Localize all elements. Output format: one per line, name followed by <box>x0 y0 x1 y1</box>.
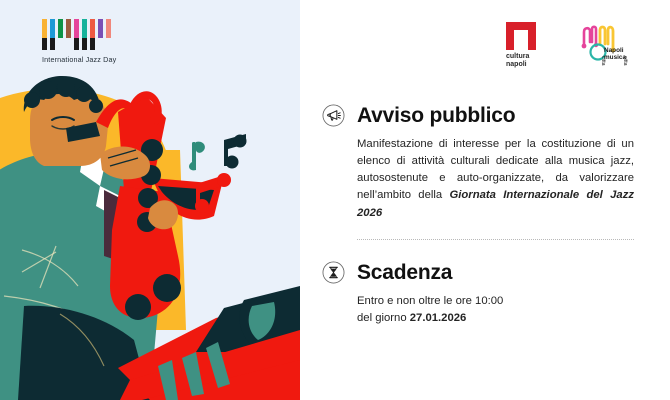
svg-text:citta: citta <box>622 56 628 66</box>
scadenza-body: Entro e non oltre le ore 10:00 del giorn… <box>357 293 634 327</box>
cultura-napoli-wordmark: cultura napoli <box>506 53 550 69</box>
header-logos: cultura napoli <box>506 22 632 68</box>
sax-key-5 <box>153 274 181 302</box>
napoli-citta-musica-mark-icon: Napoli musica citta citta <box>580 22 632 66</box>
cultura-napoli-logo[interactable]: cultura napoli <box>506 22 550 69</box>
divider-spacer <box>322 241 634 261</box>
sax-key-6 <box>125 294 151 320</box>
poster-root: International Jazz Day cultura napoli <box>0 0 670 400</box>
section-scadenza: Scadenza Entro e non oltre le ore 10:00 … <box>322 261 634 327</box>
content-column: Avviso pubblico Manifestazione di intere… <box>322 104 634 327</box>
hair-curl-5 <box>89 99 103 113</box>
scadenza-line-1: Entro e non oltre le ore 10:00 <box>357 295 503 307</box>
right-content-panel: cultura napoli <box>300 0 670 400</box>
cultura-line-2: napoli <box>506 61 550 69</box>
svg-text:Napoli: Napoli <box>604 47 624 54</box>
svg-text:citta: citta <box>600 56 606 66</box>
megaphone-icon <box>322 104 345 127</box>
scadenza-header: Scadenza <box>322 261 634 284</box>
hair-curl-4 <box>76 86 92 102</box>
hair-curl-2 <box>39 81 57 99</box>
napoli-citta-musica-logo[interactable]: Napoli musica citta citta <box>580 22 632 71</box>
hourglass-icon <box>322 261 345 284</box>
avviso-body: Manifestazione di interesse per la costi… <box>357 136 634 222</box>
hair-curl-3 <box>57 79 75 97</box>
international-jazz-day-logo: International Jazz Day <box>42 18 116 64</box>
scadenza-line-2-prefix: del giorno <box>357 312 410 324</box>
scadenza-date: 27.01.2026 <box>410 312 467 324</box>
jazz-day-caption: International Jazz Day <box>42 55 116 64</box>
avviso-header: Avviso pubblico <box>322 104 634 127</box>
music-note-dark <box>224 134 247 169</box>
jazz-day-bars-icon <box>42 18 112 50</box>
avviso-title: Avviso pubblico <box>357 105 515 126</box>
section-avviso-pubblico: Avviso pubblico Manifestazione di intere… <box>322 104 634 222</box>
hair-curl-1 <box>24 92 40 108</box>
cultura-napoli-mark-icon <box>506 22 536 50</box>
left-illustration-panel: International Jazz Day <box>0 0 300 400</box>
music-note-teal <box>189 142 205 171</box>
cultura-line-1: cultura <box>506 53 550 61</box>
scadenza-title: Scadenza <box>357 262 452 283</box>
